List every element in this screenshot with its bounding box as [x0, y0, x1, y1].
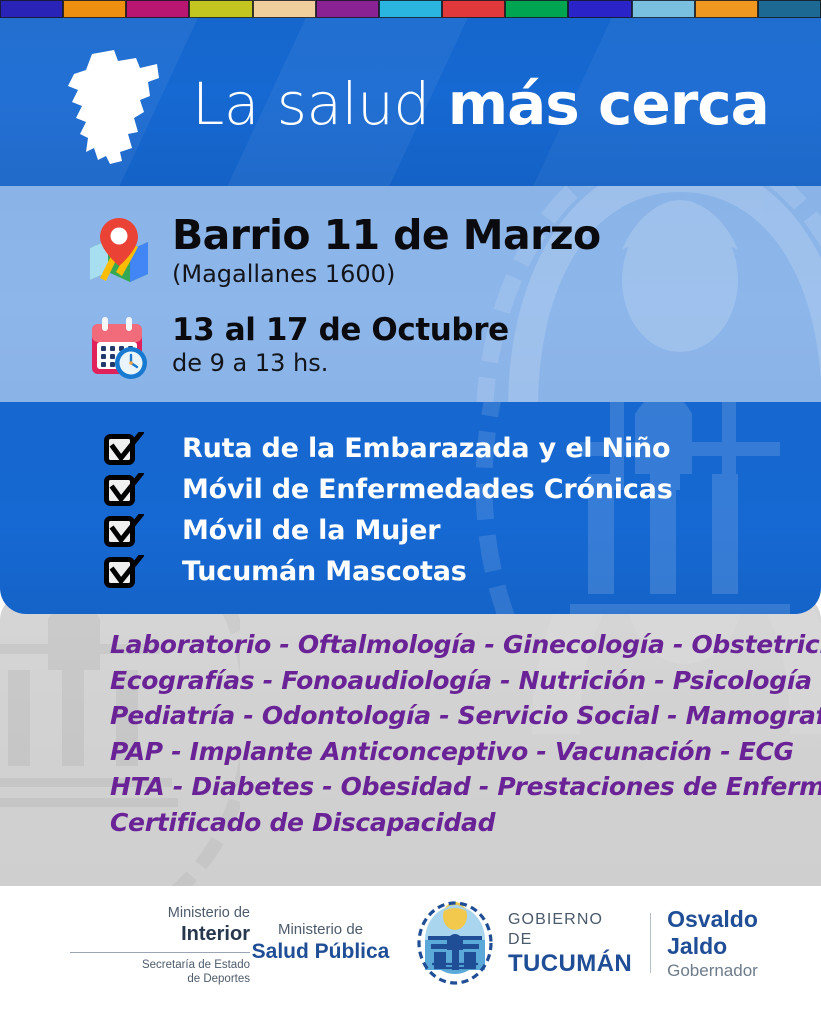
- governor-role: Gobernador: [667, 960, 821, 981]
- gobierno-tucuman-logo: GOBIERNO DE TUCUMÁN Osvaldo Jaldo Gobern…: [414, 900, 821, 986]
- color-swatch-6: [379, 0, 442, 18]
- decorative-color-strip: [0, 0, 821, 18]
- event-location-name: Barrio 11 de Marzo: [172, 212, 601, 258]
- service-line: Pediatría - Odontología - Servicio Socia…: [110, 698, 821, 734]
- color-swatch-1: [63, 0, 126, 18]
- services-detail-list: Laboratorio - Oftalmología - Ginecología…: [110, 627, 821, 840]
- color-swatch-12: [758, 0, 821, 18]
- interior-line2: Interior: [70, 922, 250, 946]
- event-date-range: 13 al 17 de Octubre: [172, 312, 509, 348]
- ministerio-salud-logo: Ministerio de Salud Pública: [228, 920, 413, 964]
- list-item: Móvil de la Mujer: [104, 512, 673, 549]
- color-swatch-8: [505, 0, 568, 18]
- salud-line1: Ministerio de: [228, 920, 413, 939]
- interior-line1: Ministerio de: [70, 904, 250, 922]
- color-swatch-3: [189, 0, 252, 18]
- event-location-address: (Magallanes 1600): [172, 260, 601, 288]
- checkbox-checked-icon: [104, 514, 144, 548]
- service-line: Ecografías - Fonoaudiología - Nutrición …: [110, 663, 821, 699]
- health-campaign-poster: La salud más cerca: [0, 0, 821, 1024]
- service-label: Tucumán Mascotas: [182, 556, 467, 587]
- service-line: PAP - Implante Anticonceptivo - Vacunaci…: [110, 734, 821, 770]
- governor-name: Osvaldo Jaldo: [667, 906, 821, 960]
- service-label: Móvil de la Mujer: [182, 515, 440, 546]
- service-line: Laboratorio - Oftalmología - Ginecología…: [110, 627, 821, 663]
- brand-title: La salud más cerca: [192, 70, 769, 138]
- tucuman-province-map-icon: [62, 48, 172, 166]
- salud-line2: Salud Pública: [228, 939, 413, 964]
- gobierno-text: GOBIERNO DE TUCUMÁN: [508, 910, 632, 977]
- list-item: Ruta de la Embarazada y el Niño: [104, 430, 673, 467]
- tucuman-coat-of-arms-icon: [414, 900, 496, 986]
- poster-header: La salud más cerca: [0, 18, 821, 186]
- calendar-clock-icon: [86, 312, 152, 384]
- event-info-band: Barrio 11 de Marzo (Magallanes 1600): [0, 186, 821, 402]
- ministerio-interior-logo: Ministerio de Interior Secretaría de Est…: [70, 904, 250, 986]
- service-label: Ruta de la Embarazada y el Niño: [182, 433, 670, 464]
- footer-logos: Ministerio de Interior Secretaría de Est…: [0, 886, 821, 1024]
- color-swatch-5: [316, 0, 379, 18]
- gobierno-line1: GOBIERNO DE: [508, 910, 632, 950]
- governor-block: Osvaldo Jaldo Gobernador: [667, 906, 821, 981]
- color-swatch-11: [695, 0, 758, 18]
- checkbox-checked-icon: [104, 555, 144, 589]
- event-location-text: Barrio 11 de Marzo (Magallanes 1600): [172, 212, 601, 288]
- mobile-services-list: Ruta de la Embarazada y el Niño Móvil de…: [104, 430, 673, 594]
- interior-line4: de Deportes: [70, 972, 250, 986]
- event-date-hours: de 9 a 13 hs.: [172, 349, 509, 377]
- color-swatch-7: [442, 0, 505, 18]
- service-label: Móvil de Enfermedades Crónicas: [182, 474, 673, 505]
- checkbox-checked-icon: [104, 473, 144, 507]
- map-pin-icon: [86, 212, 152, 284]
- color-swatch-10: [632, 0, 695, 18]
- color-swatch-4: [253, 0, 316, 18]
- list-item: Tucumán Mascotas: [104, 553, 673, 590]
- list-item: Móvil de Enfermedades Crónicas: [104, 471, 673, 508]
- brand-title-light: La salud: [192, 70, 448, 138]
- services-detail-band: Laboratorio - Oftalmología - Ginecología…: [0, 594, 821, 886]
- interior-line3: Secretaría de Estado: [70, 958, 250, 972]
- color-swatch-0: [0, 0, 63, 18]
- service-line: HTA - Diabetes - Obesidad - Prestaciones…: [110, 769, 821, 805]
- service-line: Certificado de Discapacidad: [110, 805, 821, 841]
- color-swatch-9: [568, 0, 631, 18]
- color-swatch-2: [126, 0, 189, 18]
- divider: [70, 952, 250, 953]
- mobile-services-band: Ruta de la Embarazada y el Niño Móvil de…: [0, 402, 821, 614]
- event-location-row: Barrio 11 de Marzo (Magallanes 1600): [86, 212, 601, 288]
- event-date-row: 13 al 17 de Octubre de 9 a 13 hs.: [86, 312, 509, 384]
- brand-title-bold: más cerca: [448, 70, 769, 138]
- divider: [650, 913, 651, 973]
- event-date-text: 13 al 17 de Octubre de 9 a 13 hs.: [172, 312, 509, 377]
- checkbox-checked-icon: [104, 432, 144, 466]
- gobierno-line2: TUCUMÁN: [508, 950, 632, 977]
